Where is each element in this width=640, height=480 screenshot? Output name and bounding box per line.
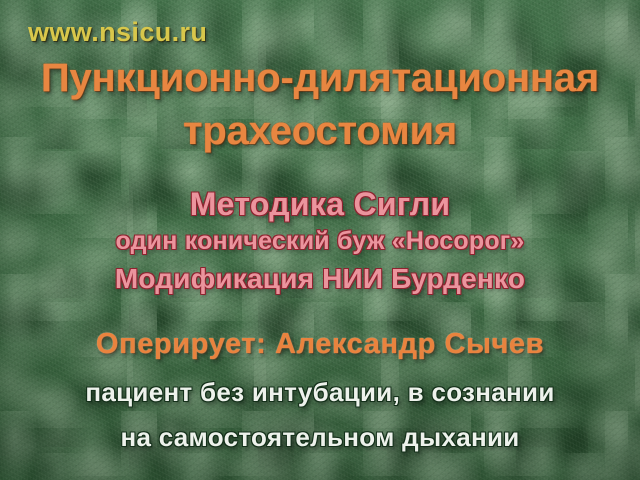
operator-credit-line: Оперирует: Александр Сычев: [0, 330, 640, 359]
video-title-slide: www.nsicu.ru Пункционно-дилятационная тр…: [0, 0, 640, 480]
slide-text-content: www.nsicu.ru Пункционно-дилятационная тр…: [0, 0, 640, 480]
slide-title-line-2: трахеостомия: [0, 111, 640, 151]
slide-title-line-1: Пункционно-дилятационная: [0, 58, 640, 98]
patient-status-line-2: на самостоятельном дыхании: [0, 424, 640, 450]
method-heading: Методика Сигли: [0, 188, 640, 220]
method-detail-line-1: один конический буж «Носорог»: [0, 229, 640, 254]
patient-status-line-1: пациент без интубации, в сознании: [0, 379, 640, 405]
method-detail-line-2: Модификация НИИ Бурденко: [0, 265, 640, 293]
website-url-text: www.nsicu.ru: [28, 19, 207, 46]
